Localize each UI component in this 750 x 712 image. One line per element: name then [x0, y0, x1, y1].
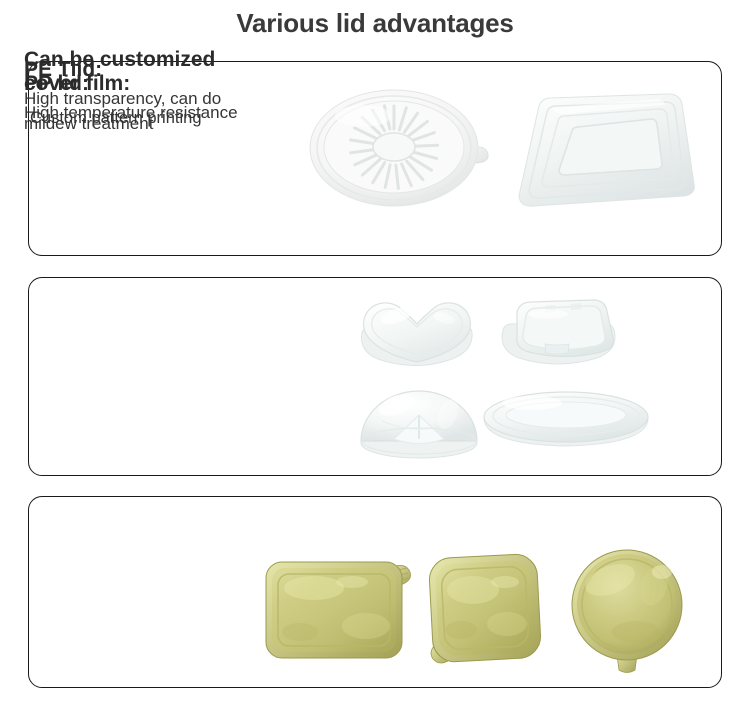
dome-pet-lid [358, 381, 480, 461]
round-ribbed-pp-lid [308, 86, 498, 211]
square-pet-lid [493, 292, 621, 374]
heart-shaped-pet-lid [354, 292, 480, 374]
rectangular-gold-cover-film [262, 552, 422, 670]
cover-film-heading: Can be customized cover film: [24, 48, 215, 97]
rectangular-pp-lid [506, 88, 702, 213]
oval-pet-lid [480, 386, 652, 458]
square-gold-cover-film [421, 550, 551, 674]
cover-film-subtitle: Custom pattern printing [24, 107, 215, 131]
cover-film-text-block: Can be customized cover film: Custom pat… [24, 48, 215, 131]
round-gold-cover-film [566, 548, 690, 676]
page-title: Various lid advantages [0, 8, 750, 39]
